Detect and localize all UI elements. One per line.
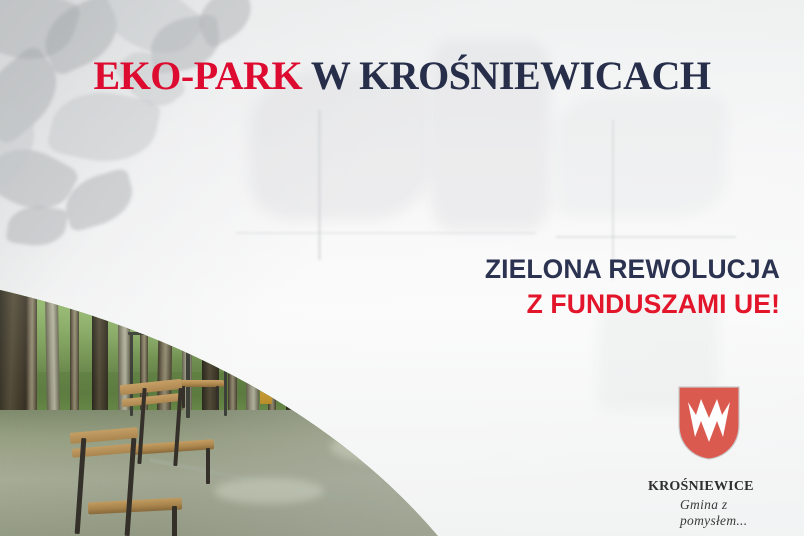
logo-municipality-name: KROŚNIEWICE [648,479,754,495]
headline-location: W KROŚNIEWICACH [302,53,710,98]
krosniewice-logo[interactable]: KROŚNIEWICE Gmina z pomysłem... [640,385,792,515]
logo-tagline: Gmina z pomysłem... [680,497,792,529]
photo-tone-overlay [0,262,550,536]
poster-headline: EKO-PARK W KROŚNIEWICACH [0,53,804,99]
headline-eko-park: EKO-PARK [94,53,303,98]
park-photo [0,262,550,536]
poster-canvas: EKO-PARK W KROŚNIEWICACH ZIELONA REWOLUC… [0,0,804,536]
coat-of-arms-icon [677,385,741,461]
park-photo-curved-mask [0,262,550,536]
park-photo-container [0,262,560,536]
